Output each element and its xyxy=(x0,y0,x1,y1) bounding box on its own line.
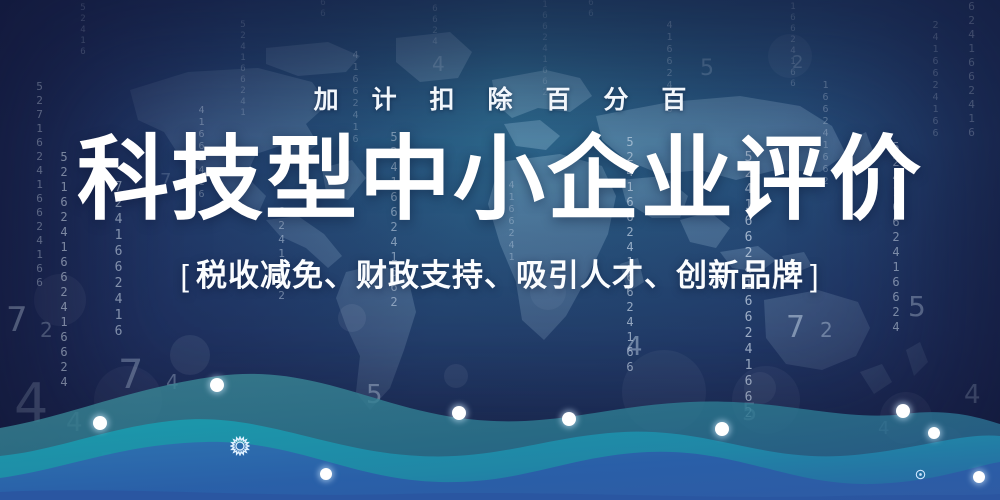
subtitle-top: 加 计 扣 除 百 分 百 xyxy=(0,80,1000,116)
wave-node-dot xyxy=(973,471,985,483)
wave-node-dot xyxy=(562,412,576,426)
tagline-bracket-close: ] xyxy=(804,258,826,293)
wave-node-dot xyxy=(928,427,940,439)
wave-node-dot xyxy=(896,404,910,418)
wave-node-dot xyxy=(320,468,332,480)
page-title: 科技型中小企业评价 xyxy=(0,134,1000,228)
wave-node-dot xyxy=(93,416,107,430)
wave-graphic xyxy=(0,310,1000,500)
tagline: [税收减免、财政支持、吸引人才、创新品牌] xyxy=(0,250,1000,295)
wave-node-dot xyxy=(210,378,224,392)
wave-node-dot xyxy=(715,422,729,436)
headline-block: 加 计 扣 除 百 分 百 科技型中小企业评价 [税收减免、财政支持、吸引人才、… xyxy=(0,0,1000,295)
tagline-text: 税收减免、财政支持、吸引人才、创新品牌 xyxy=(196,258,804,293)
banner-root: 5271624166241665216241662416624421524167… xyxy=(0,0,1000,500)
wave-node-dot xyxy=(452,406,466,420)
tagline-bracket-open: [ xyxy=(174,258,196,293)
